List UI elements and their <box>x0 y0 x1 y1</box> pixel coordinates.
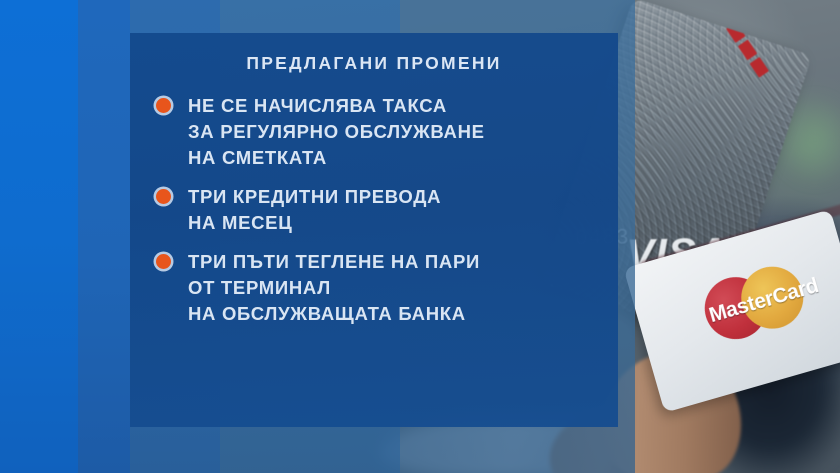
mastercard-logo: MasterCard <box>697 254 829 347</box>
list-item: НЕ СЕ НАЧИСЛЯВА ТАКСА ЗА РЕГУЛЯРНО ОБСЛУ… <box>156 93 606 171</box>
bullet-line: ТРИ КРЕДИТНИ ПРЕВОДА <box>188 184 606 210</box>
bullet-line: ТРИ ПЪТИ ТЕГЛЕНЕ НА ПАРИ <box>188 249 606 275</box>
color-band-2 <box>78 0 130 473</box>
info-panel: ПРЕДЛАГАНИ ПРОМЕНИ НЕ СЕ НАЧИСЛЯВА ТАКСА… <box>130 33 618 427</box>
panel-title: ПРЕДЛАГАНИ ПРОМЕНИ <box>130 53 618 74</box>
bullet-line: ОТ ТЕРМИНАЛ <box>188 275 606 301</box>
orange-dot-icon <box>156 189 171 204</box>
bullet-line: НА МЕСЕЦ <box>188 210 606 236</box>
broadcast-graphic-screen: 0483 VISA Signature M MasterCard ПРЕДЛАГ… <box>0 0 840 473</box>
bullet-line: НЕ СЕ НАЧИСЛЯВА ТАКСА <box>188 93 606 119</box>
bullet-line: ЗА РЕГУЛЯРНО ОБСЛУЖВАНЕ <box>188 119 606 145</box>
bullet-line: НА ОБСЛУЖВАЩАТА БАНКА <box>188 301 606 327</box>
orange-dot-icon <box>156 254 171 269</box>
orange-dot-icon <box>156 98 171 113</box>
bullet-list: НЕ СЕ НАЧИСЛЯВА ТАКСА ЗА РЕГУЛЯРНО ОБСЛУ… <box>156 93 606 340</box>
bullet-line: НА СМЕТКАТА <box>188 145 606 171</box>
list-item: ТРИ ПЪТИ ТЕГЛЕНЕ НА ПАРИ ОТ ТЕРМИНАЛ НА … <box>156 249 606 327</box>
list-item: ТРИ КРЕДИТНИ ПРЕВОДА НА МЕСЕЦ <box>156 184 606 236</box>
color-band-1 <box>0 0 78 473</box>
